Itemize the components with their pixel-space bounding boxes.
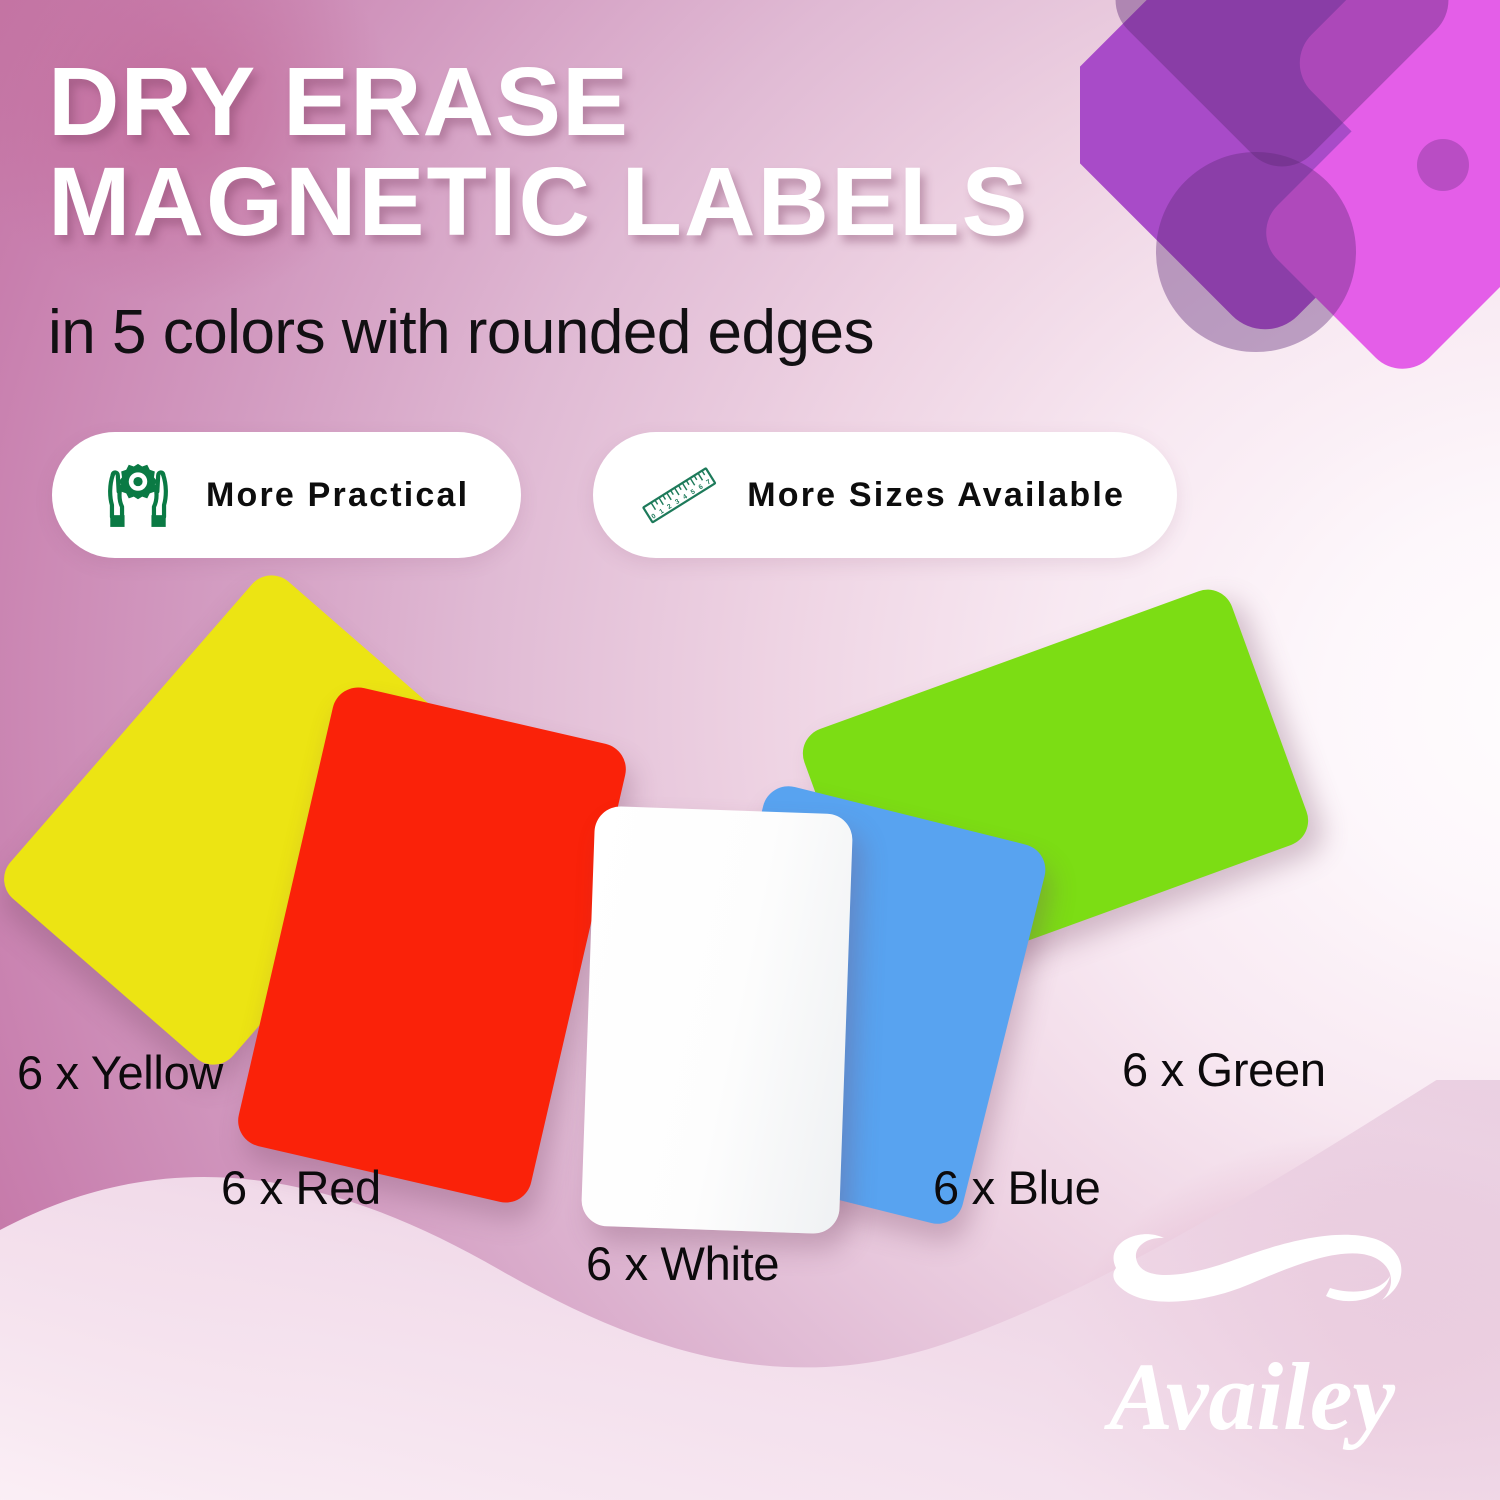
feature-badge-label: More Practical <box>206 476 469 515</box>
hands-holding-gear-icon <box>96 453 180 537</box>
ruler-icon: 012 345 67 <box>637 453 721 537</box>
product-cards-group <box>0 560 1500 1260</box>
product-label-blue: 6 x Blue <box>933 1160 1100 1215</box>
feature-badge-more-sizes[interactable]: 012 345 67 More Sizes Available <box>593 432 1177 558</box>
product-label-white: 6 x White <box>586 1236 779 1291</box>
product-label-yellow: 6 x Yellow <box>17 1045 223 1100</box>
white-card <box>581 806 854 1235</box>
product-label-red: 6 x Red <box>221 1160 381 1215</box>
logo-swoosh-icon <box>1094 1224 1424 1334</box>
decorative-shapes-cluster <box>1080 0 1500 430</box>
headline-block: DRY ERASE MAGNETIC LABELS <box>48 56 1108 248</box>
product-marketing-canvas: DRY ERASE MAGNETIC LABELS in 5 colors wi… <box>0 0 1500 1500</box>
product-label-green: 6 x Green <box>1122 1042 1326 1097</box>
deco-circle-large <box>1156 152 1356 352</box>
brand-logo: Availey <box>1042 1220 1462 1460</box>
logo-wordmark: Availey <box>1042 1341 1462 1452</box>
feature-badge-more-practical[interactable]: More Practical <box>52 432 521 558</box>
headline-line-2: MAGNETIC LABELS <box>48 156 1129 248</box>
feature-badges: More Practical 012 <box>52 432 1177 558</box>
subheadline: in 5 colors with rounded edges <box>48 297 874 368</box>
headline-line-1: DRY ERASE <box>48 56 1129 148</box>
deco-circle-small <box>1417 139 1469 191</box>
feature-badge-label: More Sizes Available <box>747 476 1125 515</box>
